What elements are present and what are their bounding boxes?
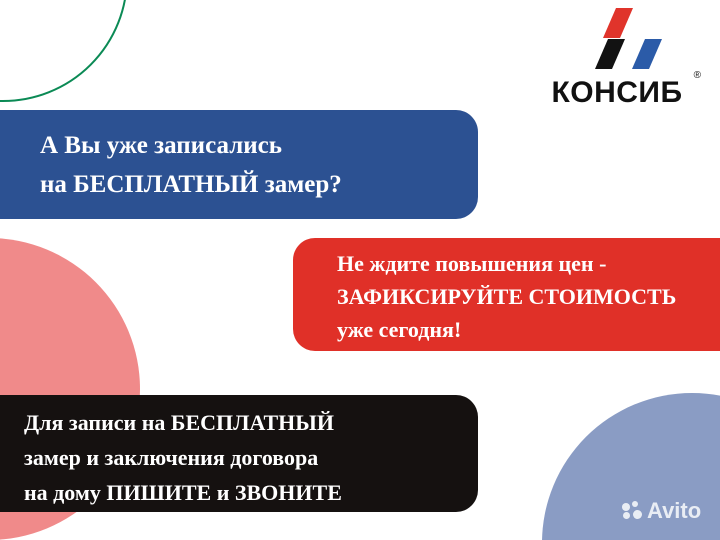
banner-red-price-lock-offer: Не ждите повышения цен - ЗАФИКСИРУЙТЕ СТ… (293, 238, 720, 351)
banner-blue-line-2: на БЕСПЛАТНЫЙ замер? (40, 165, 478, 204)
banner-blue-free-measurement-question: А Вы уже записались на БЕСПЛАТНЫЙ замер? (0, 110, 478, 219)
avito-watermark: Avito (622, 500, 701, 522)
logo-wordmark: КОНСИБ (532, 78, 702, 108)
banner-blue-line-1: А Вы уже записались (40, 126, 478, 165)
advertisement-banner-image: КОНСИБ ® А Вы уже записались на БЕСПЛАТН… (0, 0, 720, 540)
avito-watermark-label: Avito (647, 500, 701, 522)
banner-black-line-2: замер и заключения договора (24, 440, 478, 475)
banner-black-line-3: на дому ПИШИТЕ и ЗВОНИТЕ (24, 475, 478, 510)
logo-parallelograms-icon (532, 8, 702, 70)
banner-black-line-1: Для записи на БЕСПЛАТНЫЙ (24, 405, 478, 440)
avito-dots-icon (622, 501, 642, 521)
banner-red-line-1: Не ждите повышения цен - (337, 247, 720, 280)
green-ring-decoration (0, 0, 128, 102)
company-logo: КОНСИБ ® (532, 8, 702, 108)
registered-trademark-icon: ® (694, 70, 701, 81)
logo-mark-icon (532, 8, 702, 70)
banner-red-line-2: ЗАФИКСИРУЙТЕ СТОИМОСТЬ (337, 280, 720, 313)
banner-black-contact-call-to-action: Для записи на БЕСПЛАТНЫЙ замер и заключе… (0, 395, 478, 512)
banner-red-line-3: уже сегодня! (337, 313, 720, 346)
